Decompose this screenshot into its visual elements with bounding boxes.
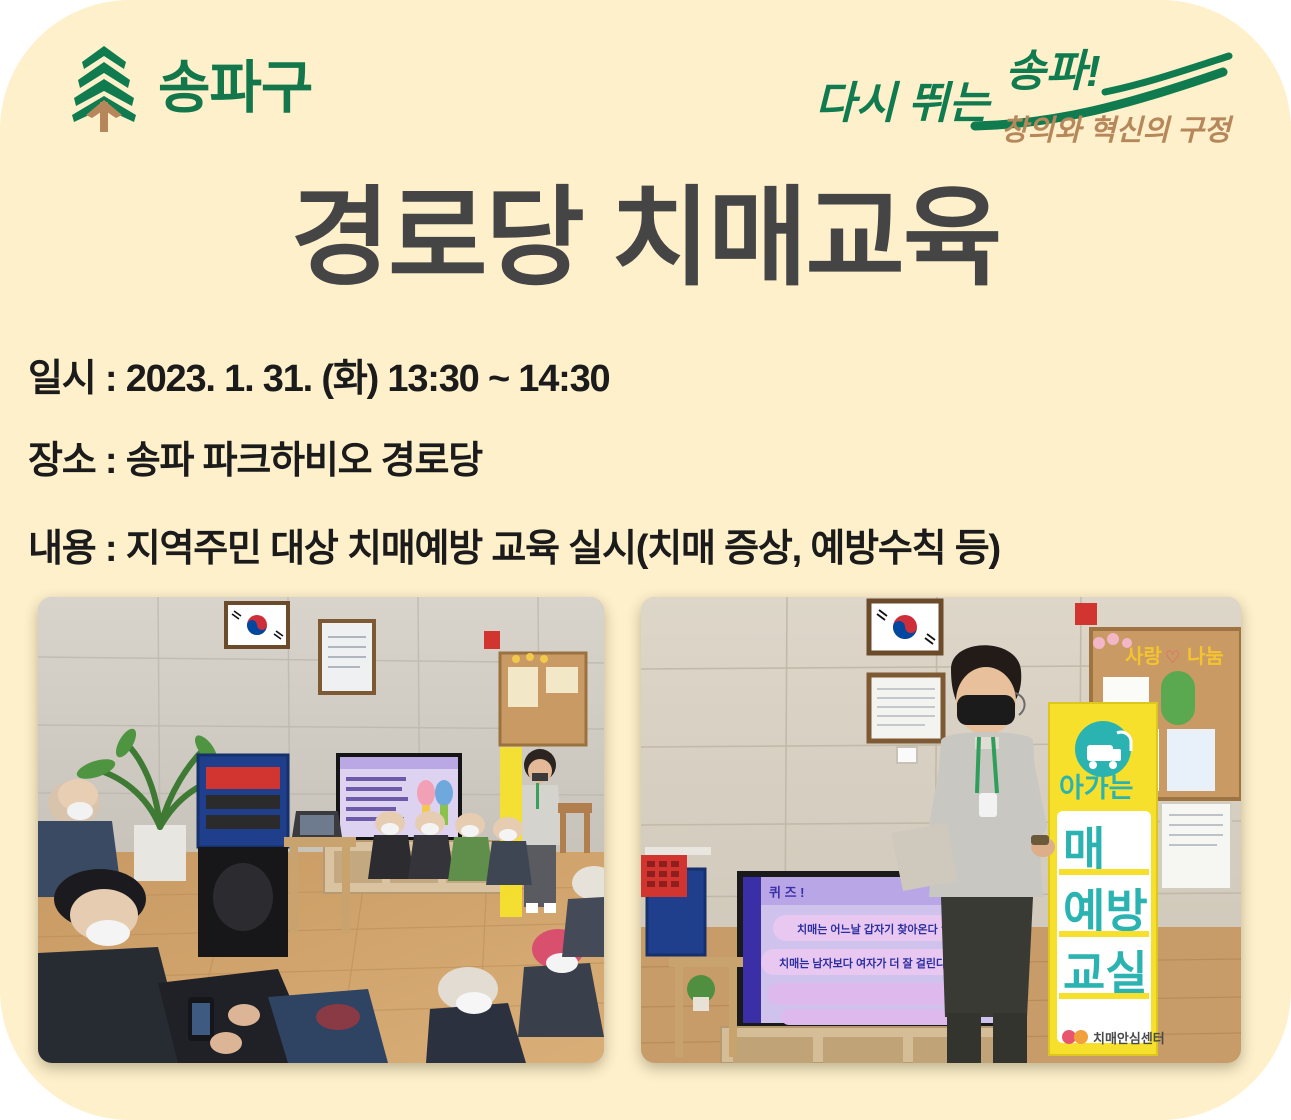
tv-quiz-heading: 퀴 즈 ! (769, 885, 804, 900)
banner-line4: 교실 (1063, 947, 1148, 999)
laptop (292, 811, 342, 837)
tv-quiz-q2: 치매는 남자보다 여자가 더 잘 걸린다 ? (779, 956, 956, 970)
svg-text:사랑: 사랑 (1125, 645, 1162, 668)
songpa-gu-brand: 송파구 (64, 42, 312, 134)
poster-root: 송파구 다시 뛰는 송파! 창의와 혁신의 구정 경로당 치매교육 일시 : 2… (0, 0, 1291, 1120)
info-datetime: 일시 : 2023. 1. 31. (화) 13:30 ~ 14:30 (28, 360, 1268, 398)
photo-classroom-audience (38, 597, 604, 1063)
poster-header: 송파구 다시 뛰는 송파! 창의와 혁신의 구정 (0, 0, 1291, 168)
banner-footer: 치매안심센터 (1093, 1031, 1165, 1046)
slogan-line1: 다시 뛰는 (815, 79, 993, 128)
banner-line1: 아가는 (1059, 773, 1134, 803)
korean-flag-icon (226, 603, 288, 647)
banner-line3: 예방 (1063, 885, 1148, 937)
dementia-prevention-banner: 아가는 매 예방 교실 치매안심센터 (1049, 703, 1165, 1055)
photo-gallery: 사랑나눔 ♡ (0, 597, 1291, 1067)
slogan-line2: 창의와 혁신의 구정 (1001, 115, 1234, 147)
songpa-slogan: 다시 뛰는 송파! 창의와 혁신의 구정 (805, 40, 1245, 150)
event-info-block: 일시 : 2023. 1. 31. (화) 13:30 ~ 14:30 장소 :… (28, 360, 1268, 568)
slogan-highlight: 송파! (1005, 47, 1101, 96)
info-content: 내용 : 지역주민 대상 치매예방 교육 실시(치매 증상, 예방수칙 등) (28, 530, 1268, 568)
photo-instructor-presenting: 사랑나눔 ♡ (641, 597, 1241, 1063)
info-place: 장소 : 송파 파크하비오 경로당 (28, 442, 1268, 480)
brand-name-label: 송파구 (158, 60, 312, 117)
banner-line2: 매 (1063, 823, 1105, 875)
svg-text:♡: ♡ (1165, 648, 1180, 667)
poster-title: 경로당 치매교육 (0, 168, 1291, 308)
pine-tree-icon (64, 42, 144, 134)
korean-flag-icon (869, 601, 941, 653)
tv-quiz-q1: 치매는 어느날 갑자기 찾아온다 ? (797, 922, 948, 936)
svg-text:나눔: 나눔 (1187, 645, 1224, 668)
